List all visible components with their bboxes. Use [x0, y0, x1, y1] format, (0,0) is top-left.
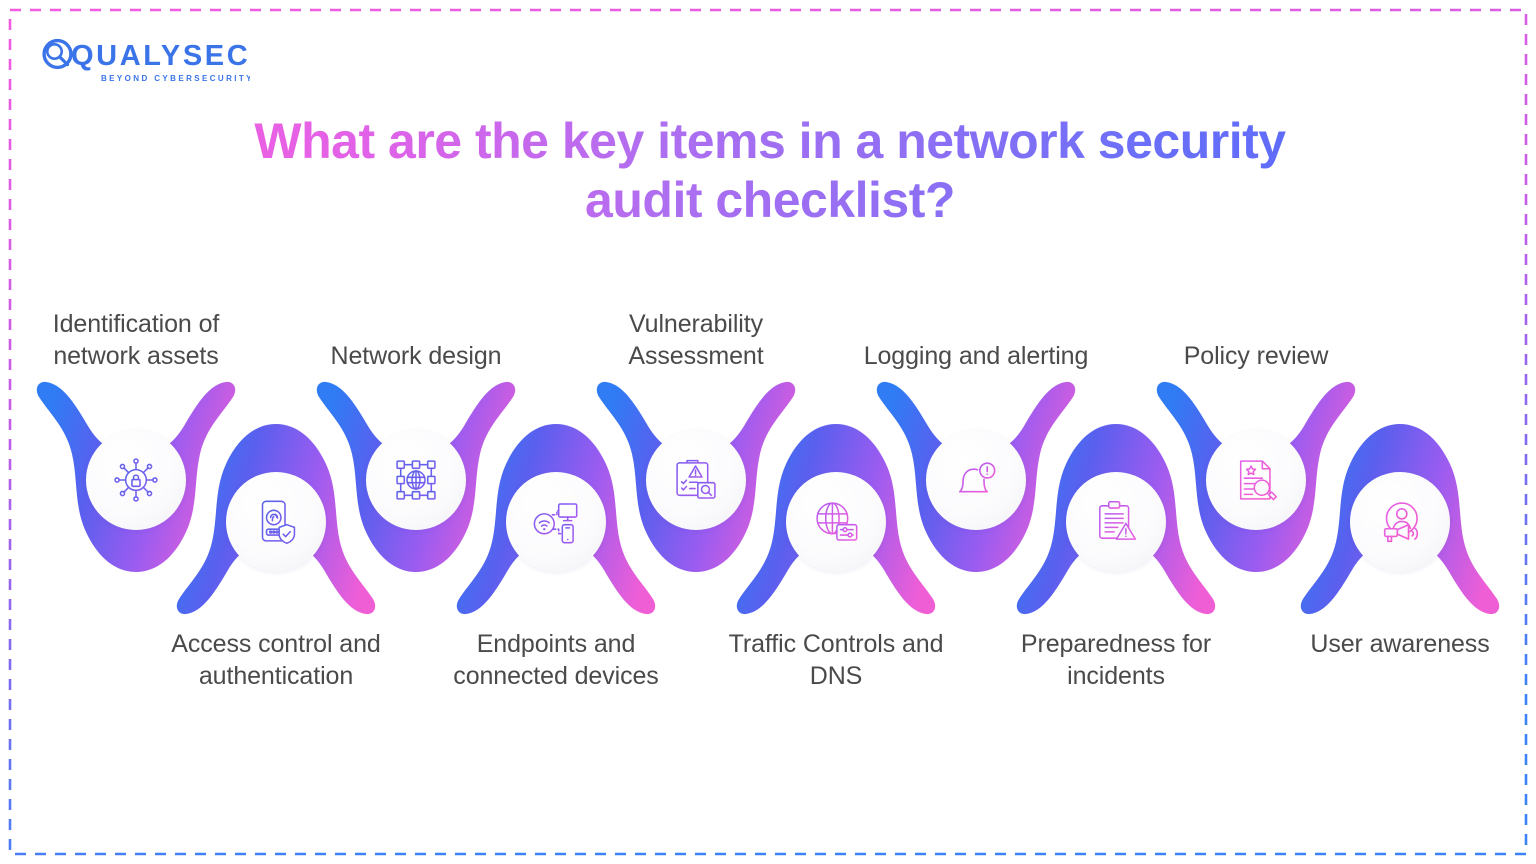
logo-wordmark: QUALYSEC	[71, 40, 250, 72]
checklist-label-5: Vulnerability Assessment	[566, 308, 826, 372]
logo-tagline: BEYOND CYBERSECURITY	[101, 74, 250, 83]
qualysec-logo: QUALYSEC BEYOND CYBERSECURITY	[40, 36, 250, 88]
globe-network-frame-icon	[389, 453, 443, 507]
globe-settings-icon	[809, 495, 863, 549]
infographic-canvas: QUALYSEC BEYOND CYBERSECURITY What are t…	[0, 0, 1536, 864]
icon-circle-3	[366, 430, 466, 530]
icon-circle-4	[506, 472, 606, 572]
checklist-label-3: Network design	[286, 340, 546, 372]
checklist-label-6: Traffic Controls and DNS	[706, 628, 966, 692]
icon-circle-8	[1066, 472, 1166, 572]
icon-circle-1	[86, 430, 186, 530]
checklist-label-8: Preparedness for incidents	[986, 628, 1246, 692]
bell-alert-icon	[949, 453, 1003, 507]
icon-circle-6	[786, 472, 886, 572]
icon-circle-7	[926, 430, 1026, 530]
checklist-label-9: Policy review	[1126, 340, 1386, 372]
checklist-label-2: Access control and authentication	[146, 628, 406, 692]
person-megaphone-icon	[1373, 495, 1427, 549]
phone-fingerprint-shield-icon	[249, 495, 303, 549]
checklist-label-10: User awareness	[1270, 628, 1530, 660]
clipboard-alert-icon	[1089, 495, 1143, 549]
checklist-node-10[interactable]: User awareness	[1300, 422, 1500, 622]
checklist-label-1: Identification of network assets	[6, 308, 266, 372]
document-star-search-icon	[1229, 453, 1283, 507]
wifi-devices-icon	[529, 495, 583, 549]
icon-circle-5	[646, 430, 746, 530]
icon-circle-2	[226, 472, 326, 572]
page-title: What are the key items in a network secu…	[190, 112, 1350, 230]
title-line-2: audit checklist?	[190, 171, 1350, 230]
checklist-label-4: Endpoints and connected devices	[426, 628, 686, 692]
icon-circle-9	[1206, 430, 1306, 530]
checklist-label-7: Logging and alerting	[846, 340, 1106, 372]
network-lock-icon	[109, 453, 163, 507]
title-line-1: What are the key items in a network secu…	[254, 113, 1285, 169]
checklist-row: Identification of network assets Ac	[0, 270, 1536, 690]
icon-circle-10	[1350, 472, 1450, 572]
clipboard-warning-search-icon	[669, 453, 723, 507]
